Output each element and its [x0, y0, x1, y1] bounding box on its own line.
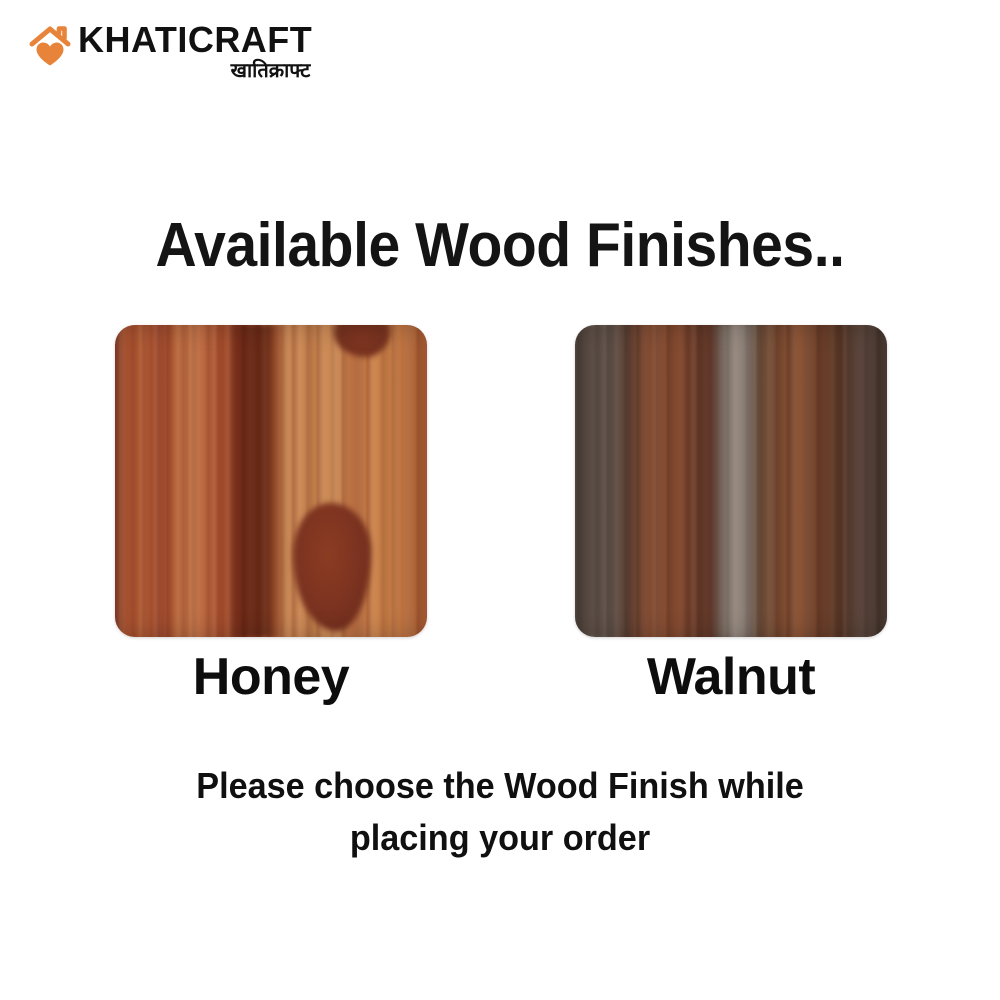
brand-subtitle-hindi: खातिक्राफ्ट	[231, 61, 313, 81]
footer-instruction: Please choose the Wood Finish while plac…	[158, 760, 842, 864]
house-heart-icon	[28, 24, 72, 70]
honey-wood-swatch[interactable]	[115, 325, 427, 637]
finish-label-walnut: Walnut	[575, 649, 887, 706]
brand-name: KHATICRAFT	[78, 22, 312, 57]
finish-option-honey[interactable]: Honey	[115, 325, 427, 706]
wood-finish-options: Honey Walnut	[0, 325, 1000, 705]
finish-option-walnut[interactable]: Walnut	[575, 325, 887, 706]
honey-swatch-vignette	[115, 325, 427, 637]
finish-label-honey: Honey	[115, 649, 427, 706]
page-title: Available Wood Finishes..	[40, 210, 960, 281]
walnut-swatch-vignette	[575, 325, 887, 637]
footer-instruction-line2: placing your order	[158, 812, 842, 864]
walnut-wood-swatch[interactable]	[575, 325, 887, 637]
footer-instruction-line1: Please choose the Wood Finish while	[158, 760, 842, 812]
brand-logo: KHATICRAFT खातिक्राफ्ट	[28, 22, 312, 81]
